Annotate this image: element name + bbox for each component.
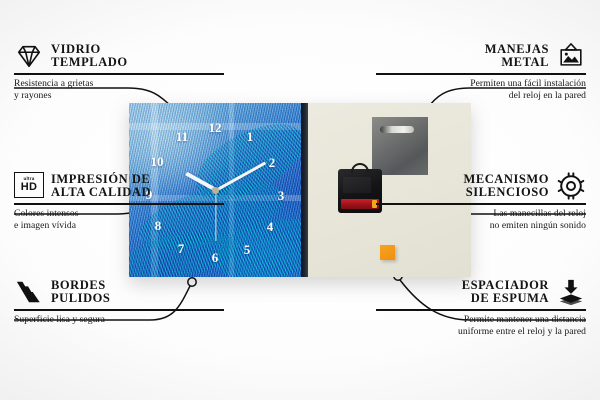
- feature-mechanism-title: MECANISMOSILENCIOSO: [463, 173, 549, 200]
- feature-glass-rule: [14, 73, 224, 75]
- feature-print: ultra HD IMPRESIÓN DEALTA CALIDAD Colore…: [14, 172, 224, 231]
- feature-edges-rule: [14, 309, 224, 311]
- feature-spacer-title: ESPACIADORDE ESPUMA: [462, 279, 549, 306]
- feature-edges-title: BORDESPULIDOS: [51, 279, 110, 306]
- clock-numeral-7: 7: [173, 242, 189, 255]
- clock-numeral-12: 12: [207, 121, 223, 134]
- clock-numeral-1: 1: [242, 130, 258, 143]
- ultra-hd-icon: ultra HD: [14, 172, 44, 200]
- feature-print-desc: Colores intensose imagen vívida: [14, 208, 224, 231]
- feature-hooks-rule: [376, 73, 586, 75]
- feature-edges-head: BORDESPULIDOS: [14, 278, 224, 306]
- feature-mechanism: MECANISMOSILENCIOSO Las manecillas del r: [376, 172, 586, 231]
- movement-panel: [343, 177, 371, 193]
- clock-numeral-11: 11: [174, 130, 190, 143]
- feature-mechanism-rule: [376, 203, 586, 205]
- clock-numeral-10: 10: [149, 155, 165, 168]
- clock-numeral-6: 6: [207, 251, 223, 264]
- feature-hooks-desc: Permiten una fácil instalacióndel reloj …: [376, 78, 586, 101]
- foam-spacer-icon: [556, 278, 586, 306]
- feature-print-head: ultra HD IMPRESIÓN DEALTA CALIDAD: [14, 172, 224, 200]
- feature-spacer: ESPACIADORDE ESPUMA Permite mantener una…: [376, 278, 586, 337]
- feature-glass-desc: Resistencia a grietasy rayones: [14, 78, 224, 101]
- feature-spacer-rule: [376, 309, 586, 311]
- diamond-icon: [14, 42, 44, 70]
- feature-glass-title: VIDRIOTEMPLADO: [51, 43, 128, 70]
- hanging-loop: [351, 163, 369, 173]
- clock-side-edge: [301, 103, 308, 277]
- hanger-keyhole-slot: [380, 126, 414, 133]
- clock-numeral-5: 5: [239, 243, 255, 256]
- battery: [341, 199, 379, 209]
- feature-hooks-title: MANEJASMETAL: [485, 43, 549, 70]
- feature-edges: BORDESPULIDOS Superficie lisa y segura: [14, 278, 224, 326]
- clock-numeral-2: 2: [264, 156, 280, 169]
- feature-mechanism-head: MECANISMOSILENCIOSO: [376, 172, 586, 200]
- ultra-hd-big-label: HD: [21, 182, 38, 193]
- feature-spacer-desc: Permite mantener una distanciauniforme e…: [376, 314, 586, 337]
- feature-print-rule: [14, 203, 224, 205]
- feature-edges-desc: Superficie lisa y segura: [14, 314, 224, 325]
- polished-edges-icon: [14, 278, 44, 306]
- gear-icon: [556, 172, 586, 200]
- feature-glass: VIDRIOTEMPLADO Resistencia a grietasy ra…: [14, 42, 224, 101]
- feature-glass-head: VIDRIOTEMPLADO: [14, 42, 224, 70]
- feature-hooks-head: MANEJASMETAL: [376, 42, 586, 70]
- metal-hanger-plate: [372, 117, 428, 175]
- feature-print-title: IMPRESIÓN DEALTA CALIDAD: [51, 173, 151, 200]
- clock-numeral-4: 4: [262, 220, 278, 233]
- feature-spacer-head: ESPACIADORDE ESPUMA: [376, 278, 586, 306]
- foam-spacer-square: [380, 245, 395, 260]
- feature-hooks: MANEJASMETAL Permiten una fácil instalac…: [376, 42, 586, 101]
- clock-numeral-3: 3: [273, 189, 289, 202]
- infographic-canvas: 12 1 2 3 4 5 6 7 8 9 10 11: [0, 0, 600, 400]
- picture-frame-icon: [556, 42, 586, 70]
- feature-mechanism-desc: Las manecillas del relojno emiten ningún…: [376, 208, 586, 231]
